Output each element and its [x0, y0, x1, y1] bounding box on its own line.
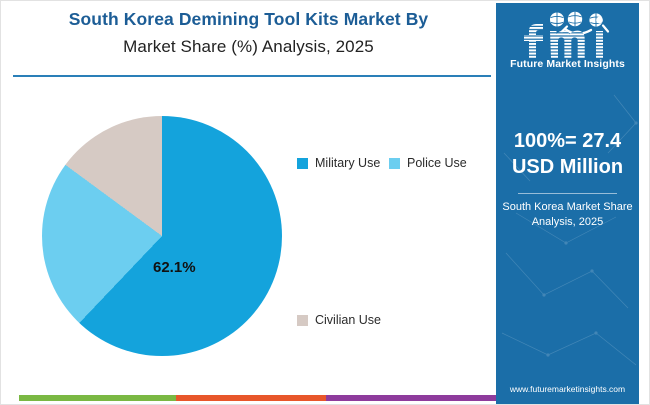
bottom-color-bar — [1, 395, 650, 401]
pie-data-label-military: 62.1% — [153, 259, 196, 276]
legend-swatch-icon — [297, 315, 308, 326]
market-size-figure: 100%= 27.4 USD Million — [502, 128, 633, 180]
brand-side-panel: Future Market Insights 100%= 27.4 USD Mi… — [496, 3, 639, 404]
website-url[interactable]: www.futuremarketinsights.com — [496, 384, 639, 394]
page-title-line-2: Market Share (%) Analysis, 2025 — [1, 37, 496, 57]
legend-label: Civilian Use — [315, 313, 381, 327]
fmi-logo: Future Market Insights — [496, 11, 639, 77]
pie-slices — [42, 116, 282, 356]
legend-item-police-use[interactable]: Police Use — [389, 156, 467, 170]
header-divider — [13, 75, 491, 77]
legend-item-military-use[interactable]: Military Use — [297, 156, 380, 170]
page-title-line-1: South Korea Demining Tool Kits Market By — [1, 9, 496, 30]
green-segment — [19, 395, 176, 401]
legend-swatch-icon — [297, 158, 308, 169]
fmi-logo-text: Future Market Insights — [496, 58, 639, 70]
panel-caption: South Korea Market Share Analysis, 2025 — [500, 200, 635, 230]
legend-label: Military Use — [315, 156, 380, 170]
chart-card: South Korea Demining Tool Kits Market By… — [0, 0, 650, 405]
legend-swatch-icon — [389, 158, 400, 169]
chart-header: South Korea Demining Tool Kits Market By… — [1, 1, 496, 77]
legend-label: Police Use — [407, 156, 467, 170]
legend-item-civilian-use[interactable]: Civilian Use — [297, 313, 381, 327]
pie-chart — [42, 116, 282, 356]
fmi-logomark-icon — [517, 11, 618, 59]
panel-divider — [518, 193, 617, 194]
orange-segment — [176, 395, 326, 401]
purple-segment — [326, 395, 496, 401]
